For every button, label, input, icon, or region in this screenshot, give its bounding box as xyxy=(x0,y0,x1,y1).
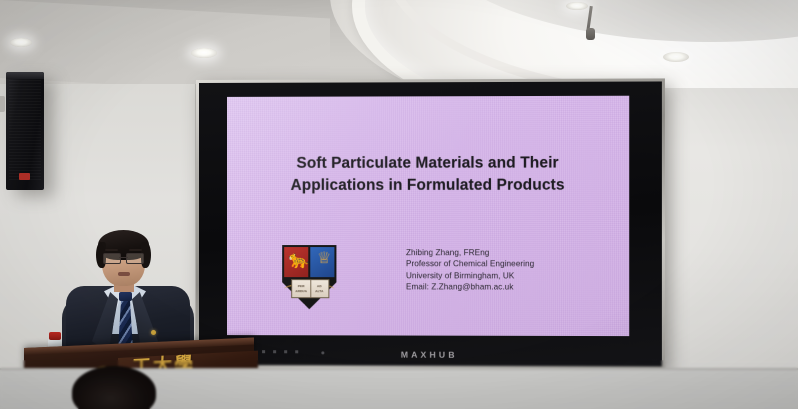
ir-sensor-icon xyxy=(321,351,324,354)
crest-motto-left: PER ARDUA xyxy=(292,280,310,297)
presenter-credentials: Zhibing Zhang, FREng Professor of Chemic… xyxy=(406,247,619,293)
presenter-affiliation: University of Birmingham, UK xyxy=(406,270,619,282)
glasses-icon xyxy=(103,253,144,262)
speaker-wall-mount xyxy=(0,96,5,112)
slide-title-line-2: Applications in Formulated Products xyxy=(235,174,621,196)
downlight-icon xyxy=(191,48,217,58)
presenter-email: Email: Z.Zhang@bham.ac.uk xyxy=(406,281,619,293)
lion-icon: 🐆 xyxy=(288,251,309,268)
bottle-cap xyxy=(49,332,61,340)
speaker-brand-logo-icon xyxy=(19,173,30,180)
open-book-icon: PER ARDUA AD ALTA xyxy=(291,279,329,298)
wall-speaker xyxy=(6,72,44,190)
glasses-bridge xyxy=(119,257,128,258)
presenter-title: Professor of Chemical Engineering xyxy=(406,259,619,271)
slide-body: 🐆 ♕ PER ARDUA AD ALTA xyxy=(227,243,629,330)
lapel-pin-icon xyxy=(151,330,156,335)
speaker-grille xyxy=(9,80,41,180)
university-crest: 🐆 ♕ PER ARDUA AD ALTA xyxy=(282,245,336,311)
downlight-icon xyxy=(663,52,689,62)
glasses-lens-right xyxy=(126,253,144,264)
slide-title: Soft Particulate Materials and Their App… xyxy=(235,152,621,196)
slide-screen[interactable]: Soft Particulate Materials and Their App… xyxy=(227,96,629,336)
motto-ardua: ARDUA xyxy=(295,289,307,293)
motto-alta: ALTA xyxy=(315,289,323,293)
presenter-brow-right xyxy=(129,249,142,251)
presenter-tie-knot xyxy=(119,292,132,301)
presenter-brow-left xyxy=(105,249,118,251)
glasses-lens-left xyxy=(103,253,121,264)
mermaid-icon: ♕ xyxy=(317,251,331,267)
presenter-name: Zhibing Zhang, FREng xyxy=(406,247,619,259)
ceiling-hanger-head xyxy=(586,28,595,40)
slide-title-line-1: Soft Particulate Materials and Their xyxy=(235,152,621,174)
lecture-hall-photo: Soft Particulate Materials and Their App… xyxy=(0,0,798,409)
speaker-top-cap xyxy=(6,72,44,79)
presentation-display[interactable]: Soft Particulate Materials and Their App… xyxy=(196,78,665,369)
crest-motto-right: AD ALTA xyxy=(310,280,328,297)
audience-member-head xyxy=(72,366,156,409)
presenter-mouth xyxy=(118,272,130,276)
book-spine xyxy=(310,280,311,297)
display-bezel: Soft Particulate Materials and Their App… xyxy=(199,81,662,366)
display-control-buttons[interactable] xyxy=(251,350,303,353)
downlight-icon xyxy=(566,2,588,10)
downlight-icon xyxy=(10,38,32,47)
